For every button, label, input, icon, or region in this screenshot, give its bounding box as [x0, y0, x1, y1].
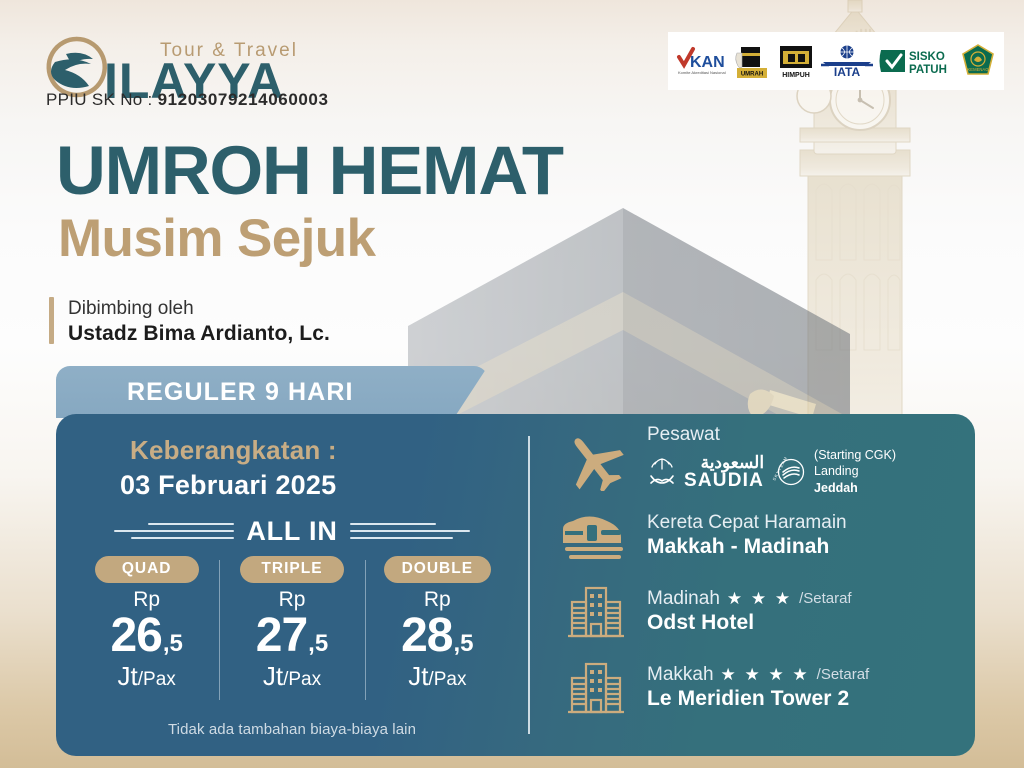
price-tier-list: QUAD Rp 26 ,5 Jt /Pax TRIPLE Rp 27 ,5	[74, 556, 510, 716]
hotel-equivalent-label: /Setaraf	[817, 666, 870, 684]
all-in-label: ALL IN	[246, 516, 337, 547]
flight-label: Pesawat	[647, 424, 961, 446]
building-icon	[561, 582, 631, 642]
departure-date: 03 Februari 2025	[120, 470, 336, 501]
guide-accent-bar	[49, 297, 54, 344]
hotel-star-rating: ★ ★ ★	[727, 589, 792, 609]
all-in-right-rule	[350, 523, 470, 539]
high-speed-train-icon	[561, 509, 631, 563]
tier-per: /Pax	[428, 670, 466, 689]
price-tier-double[interactable]: DOUBLE Rp 28 ,5 Jt /Pax	[365, 556, 510, 716]
svg-text:KAN: KAN	[690, 54, 725, 71]
airplane-icon	[561, 429, 631, 491]
feature-list: Pesawat السعودية SAUDIA	[561, 422, 961, 726]
train-route: Makkah - Madinah	[647, 534, 961, 560]
panel-vertical-divider	[528, 436, 530, 734]
tier-badge: TRIPLE	[240, 556, 344, 583]
tier-unit: Jt	[408, 663, 428, 689]
tier-amount-whole: 28	[401, 612, 452, 660]
airline-logo-row: السعودية SAUDIA SKYTEAM (Starting CGK) L…	[647, 447, 961, 497]
departure-label: Keberangkatan :	[130, 435, 337, 466]
tier-currency: Rp	[424, 589, 451, 610]
flight-meta: (Starting CGK) Landing Jeddah	[814, 447, 896, 497]
hotel-equivalent-label: /Setaraf	[799, 590, 852, 608]
tier-currency: Rp	[279, 589, 306, 610]
tier-currency: Rp	[133, 589, 160, 610]
page-title: UMROH HEMAT	[56, 136, 563, 205]
feature-hotel-makkah: Makkah ★ ★ ★ ★ /Setaraf Le Meridien Towe…	[561, 650, 961, 726]
tier-amount-decimal: ,5	[163, 632, 183, 656]
page-subtitle: Musim Sejuk	[58, 212, 375, 265]
cert-kemenag-icon: KEMENAG	[960, 37, 996, 85]
all-in-left-rule	[114, 523, 234, 539]
package-detail-panel: Keberangkatan : 03 Februari 2025 ALL IN …	[56, 414, 975, 756]
cert-iata-icon: IATA	[821, 37, 873, 85]
flight-destination: Jeddah	[814, 480, 896, 497]
feature-flight: Pesawat السعودية SAUDIA	[561, 422, 961, 498]
svg-text:HIMPUH: HIMPUH	[782, 72, 810, 79]
license-line: PPIU SK No : 91203079214060003	[46, 90, 329, 110]
tier-badge: QUAD	[95, 556, 199, 583]
guide-block: Dibimbing oleh Ustadz Bima Ardianto, Lc.	[49, 297, 330, 348]
tier-unit: Jt	[118, 663, 138, 689]
svg-text:UMRAH: UMRAH	[740, 72, 762, 78]
price-tier-triple[interactable]: TRIPLE Rp 27 ,5 Jt /Pax	[219, 556, 364, 716]
tier-amount-decimal: ,5	[454, 632, 474, 656]
airline-name-arabic: السعودية	[684, 454, 764, 471]
tier-badge: DOUBLE	[384, 556, 491, 583]
hotel-name: Odst Hotel	[647, 610, 961, 636]
certification-badges: KAN Komite Akreditasi Nasional UMRAH HIM…	[668, 32, 1004, 90]
license-prefix: PPIU SK No :	[46, 90, 158, 109]
package-tab-label: REGULER 9 HARI	[127, 378, 354, 407]
hotel-star-rating: ★ ★ ★ ★	[721, 665, 810, 685]
tier-unit: Jt	[263, 663, 283, 689]
building-icon	[561, 658, 631, 718]
guide-name: Ustadz Bima Ardianto, Lc.	[68, 321, 330, 348]
airline-name: SAUDIA	[684, 471, 764, 490]
cert-kan-icon: KAN Komite Akreditasi Nasional	[676, 37, 726, 85]
package-tab[interactable]: REGULER 9 HARI	[56, 366, 488, 418]
feature-train: Kereta Cepat Haramain Makkah - Madinah	[561, 498, 961, 574]
tier-amount-whole: 26	[110, 612, 161, 660]
price-tier-quad[interactable]: QUAD Rp 26 ,5 Jt /Pax	[74, 556, 219, 716]
train-label: Kereta Cepat Haramain	[647, 512, 961, 534]
poster-canvas: ﷲ	[0, 0, 1024, 768]
cert-sisko-patuh-icon: SISKO PATUH	[878, 37, 954, 85]
tier-amount-decimal: ,5	[308, 632, 328, 656]
feature-hotel-madinah: Madinah ★ ★ ★ /Setaraf Odst Hotel	[561, 574, 961, 650]
flight-origin: (Starting CGK)	[814, 447, 896, 464]
tier-amount-whole: 27	[256, 612, 307, 660]
svg-text:Komite Akreditasi Nasional: Komite Akreditasi Nasional	[678, 70, 726, 75]
tier-per: /Pax	[283, 670, 321, 689]
svg-text:IATA: IATA	[834, 65, 861, 78]
tier-per: /Pax	[138, 670, 176, 689]
wave-swirl-icon	[46, 36, 108, 98]
svg-text:KEMENAG: KEMENAG	[967, 67, 988, 72]
guide-label: Dibimbing oleh	[68, 297, 330, 321]
all-in-header: ALL IN	[80, 514, 504, 548]
cert-umrah-icon: UMRAH	[732, 37, 772, 85]
hotel-name: Le Meridien Tower 2	[647, 686, 961, 712]
hotel-city: Makkah	[647, 664, 714, 686]
skyteam-icon: SKYTEAM	[771, 455, 807, 489]
license-number: 91203079214060003	[158, 90, 329, 109]
price-note: Tidak ada tambahan biaya-biaya lain	[74, 721, 510, 738]
flight-landing-label: Landing	[814, 463, 896, 480]
hotel-city: Madinah	[647, 588, 720, 610]
svg-text:SISKO: SISKO	[909, 51, 945, 63]
svg-text:PATUH: PATUH	[909, 64, 947, 76]
cert-himpuh-icon: HIMPUH	[777, 37, 815, 85]
saudia-emblem-icon	[647, 456, 677, 488]
